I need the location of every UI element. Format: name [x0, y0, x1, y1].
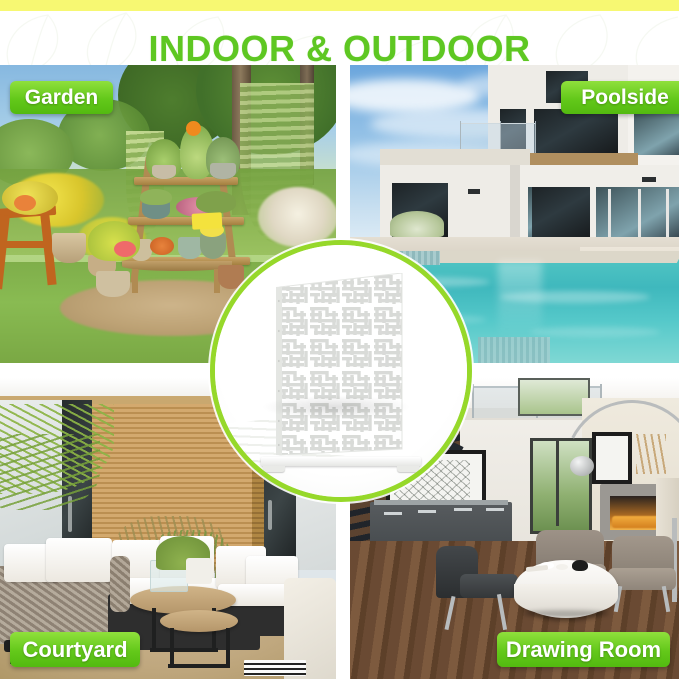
screen-pattern-icon [276, 273, 406, 459]
page-title: INDOOR & OUTDOOR [0, 22, 679, 65]
panel-foot-left [263, 466, 285, 472]
label-drawing-room-text: Drawing Room [506, 637, 661, 663]
label-garden: Garden [10, 81, 113, 114]
label-poolside: Poolside [561, 81, 679, 114]
privacy-screen-panel [276, 273, 406, 459]
product-highlight-circle [210, 240, 472, 502]
label-courtyard: Courtyard [10, 632, 140, 667]
product-circle-background [215, 245, 467, 497]
label-courtyard-text: Courtyard [22, 637, 127, 663]
label-garden-text: Garden [25, 86, 99, 110]
label-poolside-text: Poolside [581, 86, 669, 110]
label-drawing-room: Drawing Room [497, 632, 670, 667]
panel-base-bar [261, 457, 421, 466]
header-band: INDOOR & OUTDOOR [0, 11, 679, 65]
panel-ground-shadow [261, 395, 411, 419]
top-accent-bar [0, 0, 679, 11]
panel-foot-right [397, 466, 419, 472]
product-marketing-image: INDOOR & OUTDOOR [0, 0, 679, 679]
